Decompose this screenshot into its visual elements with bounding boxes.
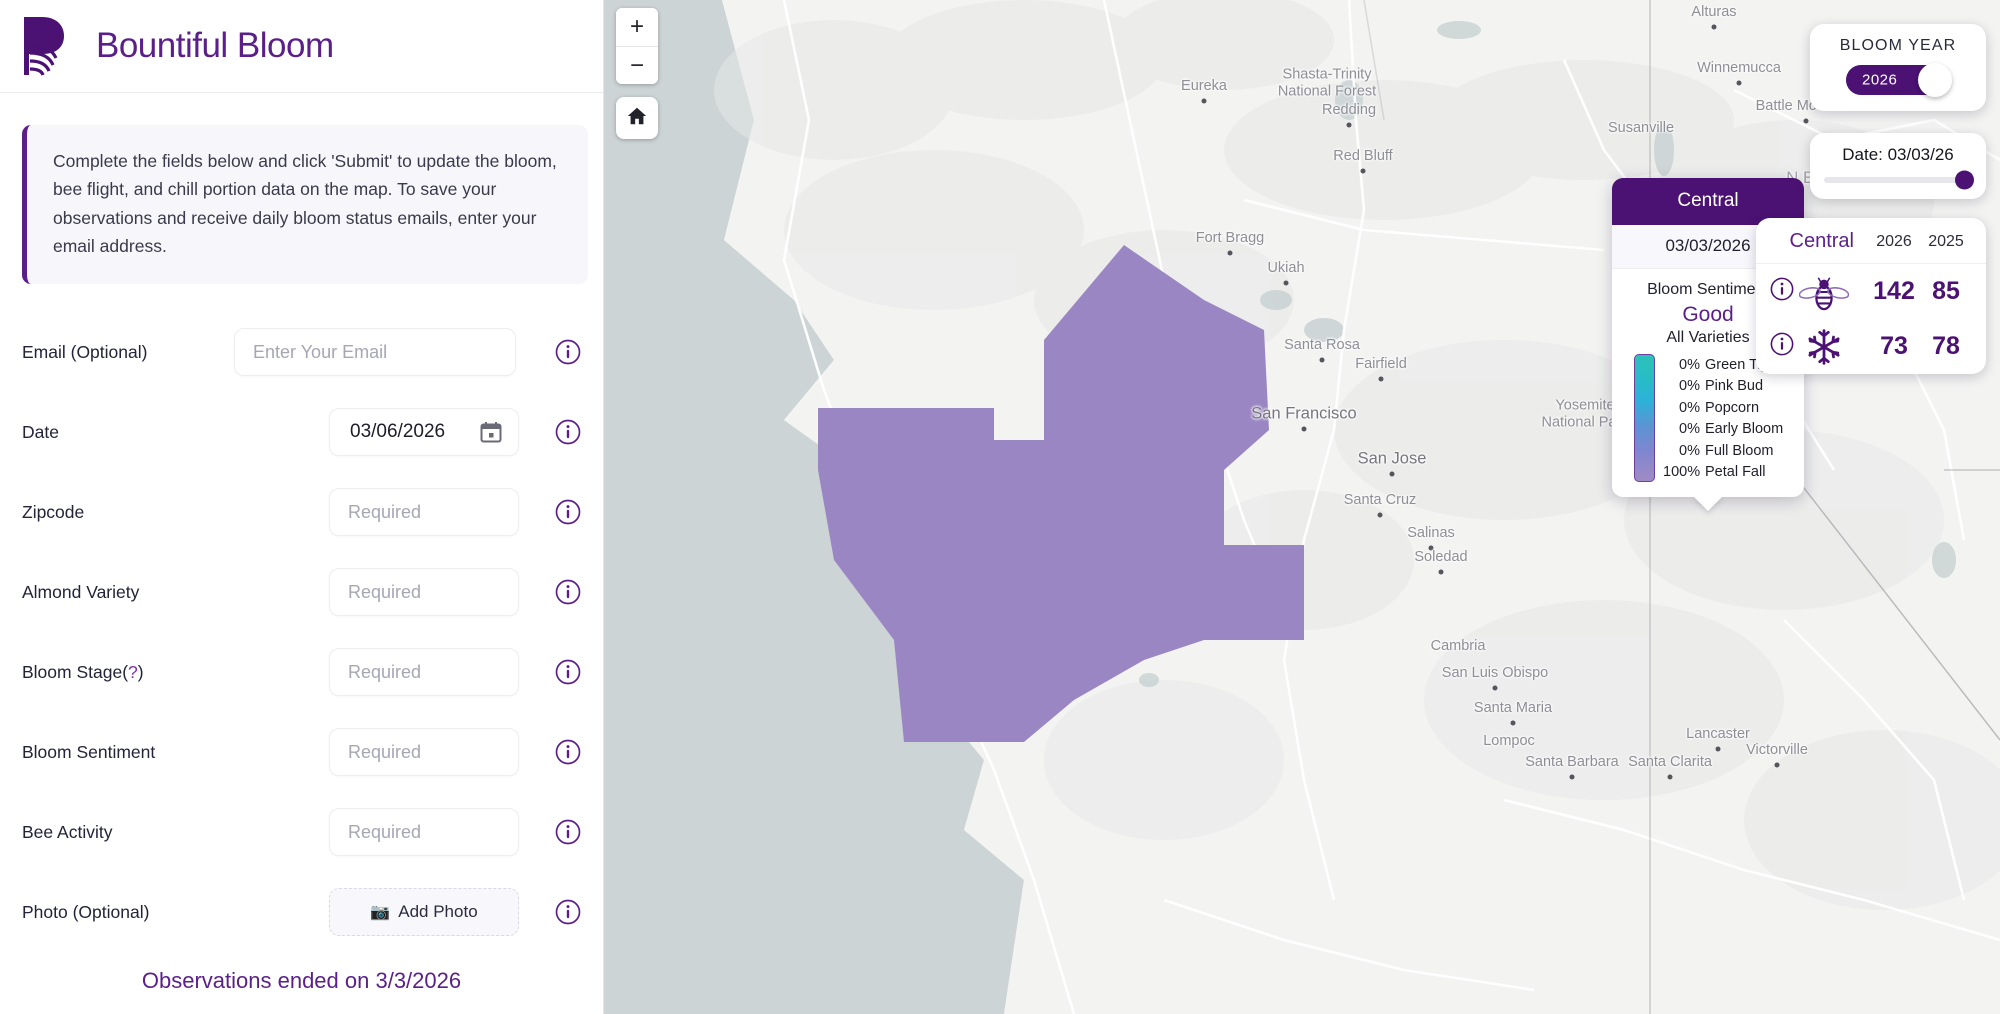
bloom-stage-row: 0%Full Bloom (1663, 440, 1783, 462)
email-field[interactable]: Enter Your Email (234, 328, 516, 376)
map-city-dot (1361, 169, 1366, 174)
info-icon[interactable] (555, 899, 581, 925)
stats-row-chill-portions: 73 78 (1756, 319, 1986, 374)
bloom-stage-name: Early Bloom (1705, 421, 1783, 437)
bee-value-2026: 142 (1868, 277, 1920, 306)
map-base-layer (604, 0, 2000, 1014)
bee-activity-field[interactable]: Required (329, 808, 519, 856)
map-city-dot (1379, 377, 1384, 382)
bloom-stage-name: Pink Bud (1705, 378, 1763, 394)
bloom-year-toggle[interactable]: 2026 (1846, 65, 1950, 95)
map-city-dot (1511, 721, 1516, 726)
map-city-dot (1439, 570, 1444, 575)
stats-row-bee-flight: 142 85 (1756, 264, 1986, 319)
bloom-stage-row: 0%Pink Bud (1663, 376, 1783, 398)
bloom-sentiment-placeholder: Required (348, 742, 421, 763)
stats-region-name: Central (1770, 230, 1868, 253)
map-city-dot (1716, 747, 1721, 752)
calendar-icon[interactable] (480, 421, 502, 443)
zoom-in-button[interactable]: + (616, 8, 658, 46)
map-city-dot (1570, 775, 1575, 780)
stats-column-2026: 2026 (1868, 233, 1920, 251)
map-city-dot (1668, 775, 1673, 780)
snowflake-icon (1796, 328, 1852, 366)
bloom-sentiment-label: Bloom Sentiment (22, 742, 234, 763)
info-icon[interactable] (555, 819, 581, 845)
bloom-stage-placeholder: Required (348, 662, 421, 683)
chill-value-2026: 73 (1868, 332, 1920, 361)
bloom-stage-help-icon[interactable]: ? (128, 662, 138, 682)
bloom-year-card: BLOOM YEAR 2026 (1810, 24, 1986, 111)
region-stats-card: Central 2026 2025 (1756, 218, 1986, 374)
bloom-logo-icon (22, 15, 80, 77)
map-city-dot (1712, 25, 1717, 30)
bloom-stage-row: 100%Petal Fall (1663, 462, 1783, 484)
map-city-dot (1390, 472, 1395, 477)
bee-activity-placeholder: Required (348, 822, 421, 843)
bloom-stage-label-paren: ) (138, 662, 144, 682)
form-row-email: Email (Optional) Enter Your Email (22, 312, 581, 392)
zipcode-field[interactable]: Required (329, 488, 519, 536)
bloom-stage-gradient-bar (1634, 354, 1655, 482)
map-home-button[interactable] (616, 97, 658, 139)
observations-ended-message: Observations ended on 3/3/2026 (0, 968, 603, 994)
zoom-out-button[interactable]: − (616, 46, 658, 84)
date-field[interactable]: 03/06/2026 (329, 408, 519, 456)
bloom-stage-name: Petal Fall (1705, 464, 1765, 480)
map-city-dot (1302, 427, 1307, 432)
map-city-dot (1493, 686, 1498, 691)
instructions-text: Complete the fields below and click 'Sub… (53, 147, 562, 260)
map-city-dot (1347, 123, 1352, 128)
almond-variety-placeholder: Required (348, 582, 421, 603)
bloom-year-title: BLOOM YEAR (1810, 37, 1986, 55)
almond-variety-label: Almond Variety (22, 582, 234, 603)
observation-form-panel: Bountiful Bloom Complete the fields belo… (0, 0, 604, 1014)
map-city-dot (1737, 81, 1742, 86)
form-row-photo: Photo (Optional) 📷 Add Photo (22, 872, 581, 952)
photo-label: Photo (Optional) (22, 902, 234, 923)
home-icon (626, 105, 648, 132)
add-photo-button[interactable]: 📷 Add Photo (329, 888, 519, 936)
info-icon[interactable] (555, 339, 581, 365)
bee-activity-label: Bee Activity (22, 822, 234, 843)
date-slider-track[interactable] (1824, 177, 1972, 183)
bloom-stage-row: 0%Popcorn (1663, 397, 1783, 419)
popup-pointer (1693, 496, 1723, 511)
instructions-callout: Complete the fields below and click 'Sub… (22, 125, 588, 284)
bloom-sentiment-field[interactable]: Required (329, 728, 519, 776)
app-title: Bountiful Bloom (96, 26, 334, 66)
bloom-stage-percent: 0% (1663, 378, 1705, 394)
bloom-stage-name: Popcorn (1705, 400, 1759, 416)
date-label: Date (22, 422, 234, 443)
form-row-date: Date 03/06/2026 (22, 392, 581, 472)
form-row-almond-variety: Almond Variety Required (22, 552, 581, 632)
date-slider-card: Date: 03/03/26 (1810, 133, 1986, 199)
map-city-dot (1284, 281, 1289, 286)
info-icon[interactable] (555, 499, 581, 525)
info-icon[interactable] (555, 419, 581, 445)
form-row-zipcode: Zipcode Required (22, 472, 581, 552)
form-row-bee-activity: Bee Activity Required (22, 792, 581, 872)
bee-icon (1796, 273, 1852, 311)
brand-header: Bountiful Bloom (0, 0, 603, 93)
info-icon[interactable] (555, 659, 581, 685)
email-label: Email (Optional) (22, 342, 234, 363)
map-city-dot (1804, 119, 1809, 124)
map-zoom-controls[interactable]: + − (616, 8, 658, 84)
map-city-dot (1228, 251, 1233, 256)
bloom-stage-label: Bloom Stage(?) (22, 662, 234, 683)
form-field-list: Email (Optional) Enter Your Email Date 0… (0, 312, 603, 952)
map-city-dot (1202, 99, 1207, 104)
bloom-stage-percent: 0% (1663, 443, 1705, 459)
map-city-dot (1429, 546, 1434, 551)
map-city-dot (1775, 763, 1780, 768)
camera-icon: 📷 (370, 902, 390, 922)
almond-variety-field[interactable]: Required (329, 568, 519, 616)
add-photo-label: Add Photo (398, 902, 477, 922)
date-slider-thumb[interactable] (1955, 171, 1974, 190)
map-city-dot (1378, 513, 1383, 518)
date-slider-label: Date: 03/03/26 (1824, 145, 1972, 165)
form-row-bloom-sentiment: Bloom Sentiment Required (22, 712, 581, 792)
bloom-stage-percent: 0% (1663, 400, 1705, 416)
bloom-stage-label-text: Bloom Stage( (22, 662, 128, 682)
info-icon[interactable] (1770, 277, 1796, 306)
bee-value-2025: 85 (1920, 277, 1972, 306)
map-city-dot (1320, 358, 1325, 363)
stats-column-2025: 2025 (1920, 233, 1972, 251)
bloom-stage-percent: 0% (1663, 357, 1705, 373)
bloom-stage-percent: 100% (1663, 464, 1705, 480)
chill-value-2025: 78 (1920, 332, 1972, 361)
form-row-bloom-stage: Bloom Stage(?) Required (22, 632, 581, 712)
bloom-stage-percent: 0% (1663, 421, 1705, 437)
email-placeholder: Enter Your Email (253, 342, 387, 363)
bloom-year-value: 2026 (1862, 72, 1897, 89)
bloom-stage-row: 0%Early Bloom (1663, 419, 1783, 441)
info-icon[interactable] (1770, 332, 1796, 361)
bloom-stage-field[interactable]: Required (329, 648, 519, 696)
info-icon[interactable] (555, 739, 581, 765)
zipcode-label: Zipcode (22, 502, 234, 523)
zipcode-placeholder: Required (348, 502, 421, 523)
info-icon[interactable] (555, 579, 581, 605)
stats-header: Central 2026 2025 (1756, 218, 1986, 264)
date-value: 03/06/2026 (350, 421, 445, 443)
bloom-map[interactable]: AlturasEurekaShasta-TrinityNational Fore… (604, 0, 2000, 1014)
toggle-knob[interactable] (1918, 63, 1952, 97)
bloom-stage-name: Full Bloom (1705, 443, 1774, 459)
